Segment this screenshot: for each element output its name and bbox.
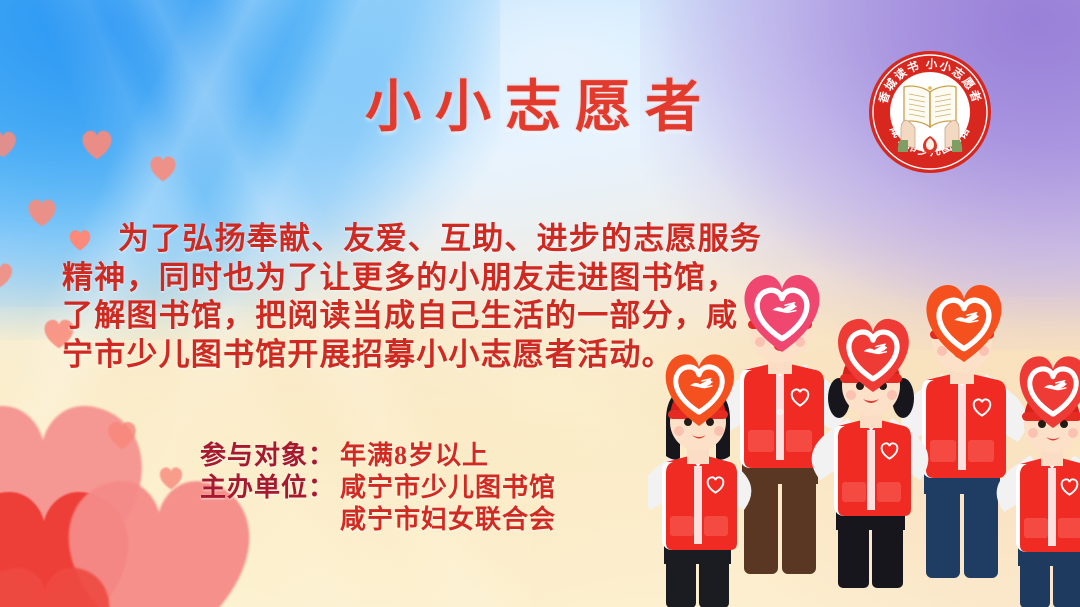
info-row-organizer: 主办单位： 咸宁市少儿图书馆 xyxy=(200,472,556,504)
info-row-organizer-2: 主办单位： 咸宁市妇女联合会 xyxy=(200,504,556,536)
info-value-organizer: 咸宁市少儿图书馆 xyxy=(340,472,556,504)
volunteers-illustration xyxy=(648,262,1080,607)
poster-canvas: 小小志愿者 香城读书 小小志愿者 咸宁市少儿图书馆 xyxy=(0,0,1080,607)
info-row-audience: 参与对象： 年满8岁以上 xyxy=(200,440,556,472)
logo-book-icon xyxy=(904,86,956,127)
info-label-audience: 参与对象： xyxy=(200,440,340,472)
info-value-organizer-2: 咸宁市妇女联合会 xyxy=(340,504,556,536)
body-line-1: 为了弘扬奉献、友爱、互助、进步的志愿服务 xyxy=(62,220,792,259)
bullet-heart-icon xyxy=(68,229,92,251)
info-block: 参与对象： 年满8岁以上 主办单位： 咸宁市少儿图书馆 主办单位： 咸宁市妇女联… xyxy=(200,440,556,536)
info-label-organizer: 主办单位： xyxy=(200,472,340,504)
body-line-1-text: 为了弘扬奉献、友爱、互助、进步的志愿服务 xyxy=(118,221,762,256)
info-value-audience: 年满8岁以上 xyxy=(340,440,489,472)
library-logo: 香城读书 小小志愿者 咸宁市少儿图书馆 xyxy=(866,48,994,176)
